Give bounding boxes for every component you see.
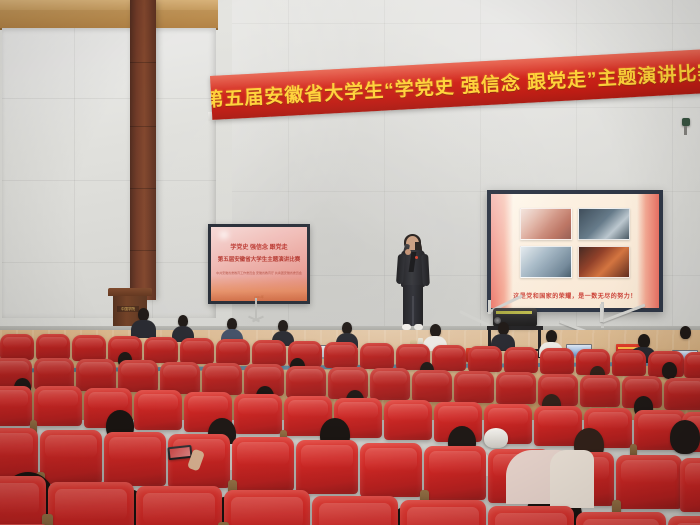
wall-column xyxy=(130,0,156,300)
seat xyxy=(680,458,700,512)
wall-camera-mount xyxy=(684,126,687,135)
seat xyxy=(34,386,82,426)
seat xyxy=(540,348,574,374)
seat xyxy=(134,390,182,430)
left-screen-line3: 中共安徽省委教育工作委员会 安徽省教育厅 共青团安徽省委员会 xyxy=(211,271,307,276)
seat xyxy=(232,437,294,491)
seat xyxy=(576,512,666,525)
seat xyxy=(684,352,700,378)
seat xyxy=(424,446,486,500)
seat xyxy=(384,400,432,440)
seat xyxy=(580,375,620,407)
seat xyxy=(504,347,538,373)
seat xyxy=(180,338,214,364)
seat xyxy=(360,343,394,369)
seat xyxy=(468,346,502,372)
seat xyxy=(612,350,646,376)
lapel-badge-icon xyxy=(415,256,418,259)
left-screen-line1: 学党史 强信念 跟党走 xyxy=(211,242,307,251)
seat xyxy=(202,363,242,395)
left-screen-line2: 第五届安徽省大学生主题演讲比赛 xyxy=(211,255,307,263)
seat xyxy=(360,443,422,497)
white-helmet xyxy=(484,428,508,448)
wall-recess-panel xyxy=(2,28,216,318)
seat xyxy=(370,368,410,400)
seat xyxy=(400,500,486,525)
audience-head xyxy=(680,326,691,339)
seat xyxy=(72,335,106,361)
seat xyxy=(668,516,700,525)
armrest xyxy=(42,514,53,525)
seat xyxy=(76,359,116,391)
left-wall-panel xyxy=(0,0,232,330)
seat xyxy=(496,372,536,404)
seat xyxy=(432,345,466,371)
seat xyxy=(0,476,46,525)
seat xyxy=(104,432,166,486)
seat xyxy=(48,482,134,525)
seat xyxy=(224,490,310,525)
right-projection-screen: 这是党和国家的荣耀，是一数无尽的努力！ xyxy=(487,190,663,312)
left-projection-screen: 学党史 强信念 跟党走 第五届安徽省大学生主题演讲比赛 中共安徽省委教育工作委员… xyxy=(208,224,310,304)
seat xyxy=(216,339,250,365)
audience-head xyxy=(638,334,650,348)
smartphone xyxy=(167,445,192,460)
seat xyxy=(296,440,358,494)
audience-seating xyxy=(0,300,700,525)
audience-head xyxy=(662,362,677,379)
seat xyxy=(252,340,286,366)
seat xyxy=(234,394,282,434)
seat xyxy=(412,370,452,402)
audience-head xyxy=(670,420,700,454)
seat xyxy=(136,486,222,525)
wall-camera-icon xyxy=(682,118,690,126)
auditorium-photo: 第五届安徽省大学生“学党史 强信念 跟党走”主题演讲比赛 学党史 强信念 跟党走… xyxy=(0,0,700,525)
seat xyxy=(0,334,34,360)
seat xyxy=(0,386,32,426)
seat xyxy=(664,378,700,410)
seat xyxy=(616,455,682,509)
seat xyxy=(312,496,398,525)
seat xyxy=(324,342,358,368)
audience-shoulders xyxy=(550,450,594,508)
wood-trim-highlight xyxy=(0,0,218,10)
seat xyxy=(454,371,494,403)
seat xyxy=(286,366,326,398)
seat xyxy=(36,334,70,360)
seat xyxy=(40,430,102,484)
seat xyxy=(488,506,574,525)
